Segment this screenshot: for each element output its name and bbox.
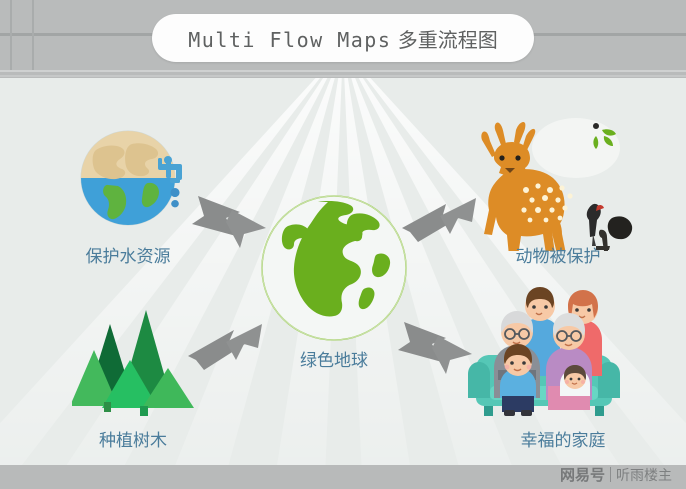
diagram-stage: 保护水资源 种植树木 绿色地球 [0,78,686,465]
frame-vertical-rule-left [10,0,12,72]
green-globe-icon [258,192,410,344]
watermark-separator [610,467,611,482]
diagram-canvas: Multi Flow Maps 多重流程图 [0,0,686,489]
frame-divider-b [0,75,686,77]
title-english: Multi Flow Maps [188,28,391,52]
watermark-author: 听雨楼主 [616,465,672,485]
arrow-earth-to-family [392,318,478,380]
pine-trees-icon [72,306,198,418]
water-globe-faucet-icon [72,120,200,236]
frame-divider-a [0,70,686,72]
arrow-water-to-earth [186,190,272,252]
node-label-trees: 种植树木 [0,426,266,451]
family-on-sofa-icon [468,282,620,418]
page-title: Multi Flow Maps 多重流程图 [188,24,497,53]
frame-vertical-rule-inner [32,0,34,72]
node-label-family: 幸福的家庭 [430,426,686,451]
watermark-brand: 网易号 [560,464,605,485]
arrow-trees-to-earth [182,318,268,378]
title-chinese: 多重流程图 [398,28,498,52]
deer-animals-icon [460,106,640,251]
watermark: 网易号 听雨楼主 [560,464,672,485]
arrow-earth-to-animals [396,194,482,254]
title-pill: Multi Flow Maps 多重流程图 [152,14,534,62]
